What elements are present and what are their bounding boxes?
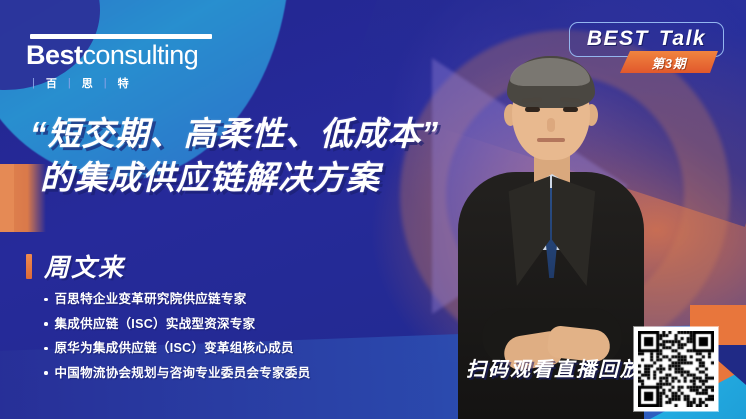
- speaker-eye-left: [525, 107, 540, 112]
- list-item: 中国物流协会规划与咨询专业委员会专家委员: [44, 367, 311, 380]
- speaker-name: 周文来: [44, 248, 125, 284]
- logo-rule: [30, 34, 212, 39]
- list-item: 百思特企业变革研究院供应链专家: [44, 293, 311, 306]
- logo-consulting-text: consulting: [83, 41, 199, 69]
- cta-text: 扫码观看直播回放: [466, 353, 642, 382]
- logo-cn-char-3: 特: [118, 75, 131, 91]
- badge-best-text: BEST: [587, 27, 649, 50]
- best-talk-badge: BESTTalk 第3期: [569, 22, 724, 57]
- logo-wordmark: Bestconsulting: [26, 41, 222, 69]
- speaker-nose: [547, 118, 555, 132]
- logo-chinese-name: | 百 | 思 | 特: [32, 75, 222, 91]
- list-item: 原华为集成供应链（ISC）变革组核心成员: [44, 342, 311, 355]
- speaker-eye-right: [563, 107, 578, 112]
- logo-separator-2: |: [68, 77, 73, 89]
- speaker-mouth: [537, 138, 565, 142]
- best-talk-title: BESTTalk: [582, 27, 711, 51]
- speaker-block: 周文来: [26, 248, 125, 284]
- credential-text: 集成供应链（ISC）实战型资深专家: [55, 318, 256, 331]
- logo-cn-char-2: 思: [82, 75, 95, 91]
- credential-text: 百思特企业变革研究院供应链专家: [55, 293, 247, 306]
- bullet-dot-icon: [44, 322, 48, 326]
- logo-best-text: Best: [26, 41, 83, 69]
- qr-code-icon[interactable]: [634, 327, 718, 411]
- credential-text: 中国物流协会规划与咨询专业委员会专家委员: [55, 367, 311, 380]
- title-line-2: 的集成供应链解决方案: [40, 156, 439, 200]
- brand-logo: Bestconsulting | 百 | 思 | 特: [26, 34, 222, 91]
- speaker-credentials-list: 百思特企业变革研究院供应链专家 集成供应链（ISC）实战型资深专家 原华为集成供…: [44, 293, 311, 391]
- qr-code-canvas[interactable]: [638, 331, 714, 407]
- logo-separator-1: |: [32, 77, 37, 89]
- speaker-hair-highlight: [510, 58, 590, 86]
- background-orange-strip: [0, 164, 14, 232]
- logo-cn-char-1: 百: [46, 75, 59, 91]
- list-item: 集成供应链（ISC）实战型资深专家: [44, 318, 311, 331]
- speaker-accent-bar: [26, 254, 32, 279]
- credential-text: 原华为集成供应链（ISC）变革组核心成员: [55, 342, 294, 355]
- badge-talk-text: Talk: [659, 27, 706, 50]
- webinar-poster: Bestconsulting | 百 | 思 | 特 BESTTalk 第3期 …: [0, 0, 746, 419]
- bullet-dot-icon: [44, 371, 48, 375]
- episode-ribbon: 第3期: [620, 51, 718, 73]
- episode-label: 第3期: [652, 53, 687, 72]
- bullet-dot-icon: [44, 347, 48, 351]
- page-title: “短交期、高柔性、低成本” 的集成供应链解决方案: [30, 112, 439, 199]
- logo-separator-3: |: [104, 77, 109, 89]
- bullet-dot-icon: [44, 298, 48, 302]
- title-line-1: “短交期、高柔性、低成本”: [30, 112, 439, 156]
